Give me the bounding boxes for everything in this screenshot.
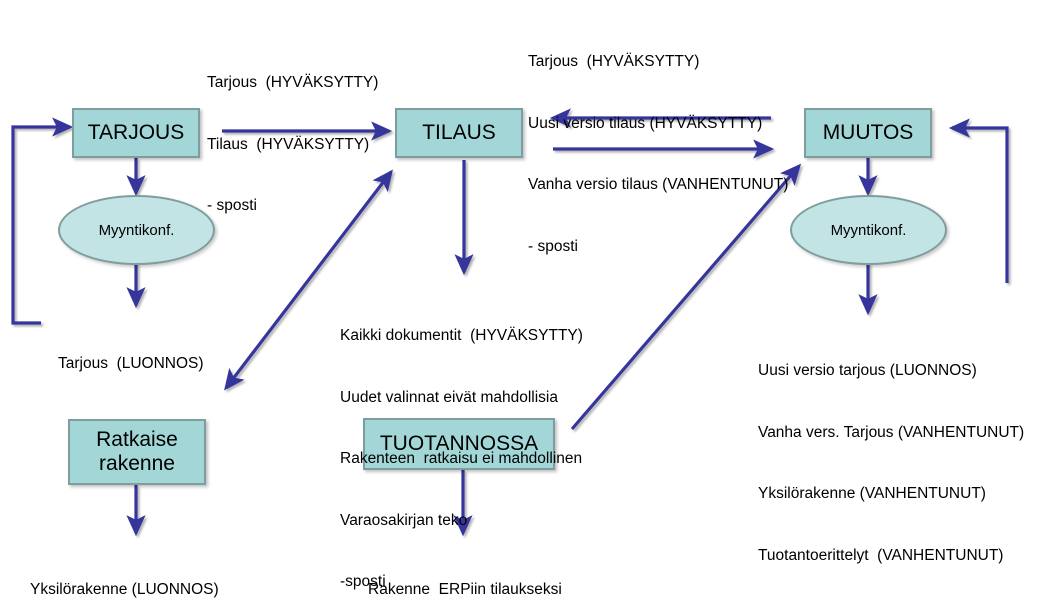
- note-tilaus-center-line-2: Uudet valinnat eivät mahdollisia: [340, 388, 583, 409]
- note-muutos-bottom: Uusi versio tarjous (LUONNOS) Vanha vers…: [758, 320, 1024, 601]
- note-tilaus-center-line-1: Kaikki dokumentit (HYVÄKSYTTY): [340, 326, 583, 347]
- node-myyntikonf-right[interactable]: Myyntikonf.: [790, 195, 947, 265]
- note-tarjous-luonnos: Tarjous (LUONNOS): [58, 313, 204, 416]
- node-tarjous[interactable]: TARJOUS: [72, 108, 200, 158]
- node-muutos[interactable]: MUUTOS: [804, 108, 932, 158]
- note-tilaus-center-line-4: Varaosakirjan teko: [340, 511, 583, 532]
- node-myyntikonf-left-label: Myyntikonf.: [99, 222, 175, 239]
- node-muutos-label: MUUTOS: [823, 121, 914, 145]
- note-tuotannossa-bottom-line-1: Rakenne ERPiin tilaukseksi: [368, 580, 673, 601]
- node-tilaus-label: TILAUS: [422, 121, 496, 145]
- note-muutos-bottom-line-3: Yksilörakenne (VANHENTUNUT): [758, 484, 1024, 505]
- edge-right-feedback-loop: [952, 128, 1007, 283]
- note-muutos-top-line-2: Uusi versio tilaus (HYVÄKSYTTY): [528, 114, 788, 135]
- node-myyntikonf-right-label: Myyntikonf.: [831, 222, 907, 239]
- note-tarjous-tilaus-line-2: Tilaus (HYVÄKSYTTY): [207, 135, 378, 156]
- node-ratkaise-rakenne[interactable]: Ratkaise rakenne: [68, 419, 206, 485]
- note-ratkaise-bottom: Yksilörakenne (LUONNOS) Tuotantoerittely…: [30, 539, 263, 601]
- note-tilaus-center-line-3: Rakenteen ratkaisu ei mahdollinen: [340, 449, 583, 470]
- note-tarjous-tilaus-line-3: - sposti: [207, 196, 378, 217]
- note-tarjous-tilaus-line-1: Tarjous (HYVÄKSYTTY): [207, 73, 378, 94]
- note-muutos-bottom-line-1: Uusi versio tarjous (LUONNOS): [758, 361, 1024, 382]
- note-ratkaise-bottom-line-1: Yksilörakenne (LUONNOS): [30, 580, 263, 601]
- note-muutos-top-line-1: Tarjous (HYVÄKSYTTY): [528, 52, 788, 73]
- note-muutos-top-line-3: Vanha versio tilaus (VANHENTUNUT): [528, 175, 788, 196]
- diagram-canvas: TARJOUS TILAUS MUUTOS Ratkaise rakenne T…: [0, 0, 1056, 601]
- node-ratkaise-rakenne-label-line2: rakenne: [96, 452, 178, 476]
- note-muutos-bottom-line-2: Vanha vers. Tarjous (VANHENTUNUT): [758, 423, 1024, 444]
- node-ratkaise-rakenne-label-line1: Ratkaise: [96, 428, 178, 452]
- node-tarjous-label: TARJOUS: [88, 121, 184, 145]
- note-tuotannossa-bottom: Rakenne ERPiin tilaukseksi Muutokset ERP…: [368, 539, 673, 601]
- note-muutos-bottom-line-4: Tuotantoerittelyt (VANHENTUNUT): [758, 546, 1024, 567]
- note-tarjous-luonnos-line-1: Tarjous (LUONNOS): [58, 354, 204, 375]
- node-tilaus[interactable]: TILAUS: [395, 108, 523, 158]
- note-tarjous-tilaus: Tarjous (HYVÄKSYTTY) Tilaus (HYVÄKSYTTY)…: [207, 32, 378, 258]
- node-myyntikonf-left[interactable]: Myyntikonf.: [58, 195, 215, 265]
- note-muutos-top: Tarjous (HYVÄKSYTTY) Uusi versio tilaus …: [528, 11, 788, 298]
- note-muutos-top-line-4: - sposti: [528, 237, 788, 258]
